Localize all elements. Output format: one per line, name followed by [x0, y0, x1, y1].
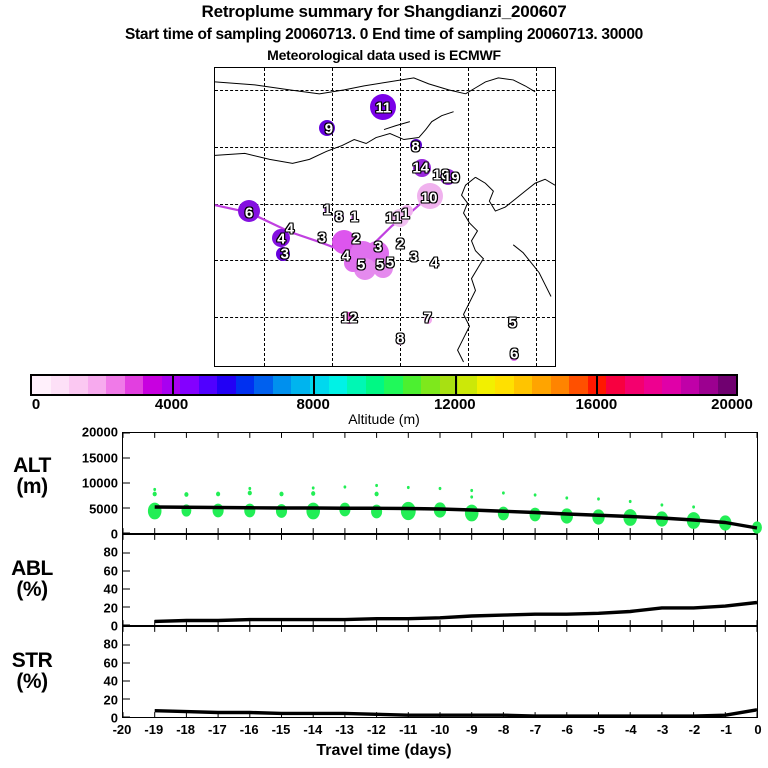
series-line	[155, 710, 757, 716]
map-day-label: 8	[396, 331, 404, 348]
abl-timeseries-panel	[122, 534, 758, 626]
map-day-label: 11	[386, 210, 402, 227]
x-tick-label: -10	[431, 722, 450, 737]
colorbar-swatch	[681, 376, 700, 394]
colorbar-swatch	[403, 376, 422, 394]
map-day-label: 7	[423, 310, 431, 327]
x-tick-label: -8	[498, 722, 510, 737]
y-tick-label: 10000	[58, 476, 118, 491]
map-day-label: 1	[350, 209, 358, 226]
x-tick-label: -17	[208, 722, 227, 737]
alt-marker-satellite	[153, 492, 157, 497]
y-tick-label: 80	[58, 637, 118, 652]
map-day-label: 10	[421, 189, 438, 206]
colorbar-swatch	[551, 376, 570, 394]
retroplume-map: 91181418191064433181245535111234128756	[214, 67, 556, 367]
colorbar-swatch	[495, 376, 514, 394]
map-day-label: 3	[318, 229, 326, 246]
alt-marker-satellite	[470, 489, 473, 492]
altitude-colorbar	[30, 374, 738, 396]
alt-marker-satellite	[565, 496, 568, 499]
colorbar-swatch	[106, 376, 125, 394]
alt-marker-satellite	[597, 497, 600, 500]
colorbar-swatch	[180, 376, 199, 394]
colorbar-swatch	[329, 376, 348, 394]
page-title: Retroplume summary for Shangdianzi_20060…	[0, 2, 768, 22]
map-day-label: 12	[341, 310, 358, 327]
colorbar-swatch	[532, 376, 551, 394]
y-tick-label: 60	[58, 655, 118, 670]
map-day-label: 5	[508, 314, 516, 331]
colorbar-swatch	[69, 376, 88, 394]
str-row-label: STR(%)	[4, 650, 60, 692]
colorbar-swatch	[421, 376, 440, 394]
alt-marker	[561, 508, 573, 523]
series-line	[155, 603, 757, 622]
map-day-label: 3	[410, 249, 418, 266]
map-day-label: 3	[374, 238, 382, 255]
x-tick-label: -16	[240, 722, 259, 737]
map-day-label: 8	[411, 138, 419, 155]
x-tick-label: -1	[720, 722, 732, 737]
alt-marker-satellite	[661, 503, 664, 506]
abl-row-label: ABL(%)	[4, 558, 60, 600]
alt-marker	[276, 504, 287, 518]
map-day-label: 6	[510, 346, 518, 363]
colorbar-separator	[172, 374, 174, 396]
colorbar-swatch	[347, 376, 366, 394]
map-day-label: 3	[281, 246, 289, 263]
map-day-label: 5	[386, 255, 394, 272]
colorbar-swatch	[273, 376, 292, 394]
y-tick-label: 20	[58, 600, 118, 615]
x-tick-label: -20	[113, 722, 132, 737]
colorbar-swatch	[217, 376, 236, 394]
alt-marker-satellite	[439, 487, 442, 490]
y-tick-label: 60	[58, 563, 118, 578]
map-day-label: 6	[245, 204, 253, 221]
map-day-label: 19	[443, 170, 460, 187]
y-tick-label: 40	[58, 674, 118, 689]
colorbar-swatch	[644, 376, 663, 394]
alt-row-label: ALT(m)	[4, 455, 60, 497]
colorbar-swatch	[699, 376, 718, 394]
meteorological-data-note: Meteorological data used is ECMWF	[0, 47, 768, 63]
colorbar-swatch	[88, 376, 107, 394]
map-day-label: 5	[357, 256, 365, 273]
map-day-label: 2	[352, 231, 360, 248]
colorbar-swatch	[477, 376, 496, 394]
altitude-plot	[123, 433, 757, 533]
alt-y-tick-labels: 05000100001500020000	[56, 432, 118, 534]
alt-marker-satellite	[216, 492, 220, 497]
y-tick-label: 0	[58, 711, 118, 726]
map-day-label: 14	[412, 159, 429, 176]
colorbar-swatch	[199, 376, 218, 394]
x-tick-label: -6	[561, 722, 573, 737]
altitude-timeseries-panel	[122, 432, 758, 534]
alt-marker	[401, 502, 416, 520]
alt-marker	[213, 504, 224, 518]
y-tick-label: 5000	[58, 501, 118, 516]
alt-marker-satellite	[279, 492, 283, 497]
alt-marker	[465, 505, 479, 522]
alt-marker-satellite	[344, 485, 347, 488]
map-day-label: 4	[286, 220, 294, 237]
colorbar-swatch	[458, 376, 477, 394]
y-tick-label: 40	[58, 582, 118, 597]
map-day-label: 5	[376, 256, 384, 273]
alt-marker-satellite	[629, 500, 632, 503]
sampling-time-subtitle: Start time of sampling 20060713. 0 End t…	[0, 26, 768, 44]
x-tick-label: -12	[367, 722, 386, 737]
colorbar-swatch	[366, 376, 385, 394]
y-tick-label: 15000	[58, 450, 118, 465]
alt-marker-satellite	[470, 495, 473, 498]
x-tick-label: -11	[399, 722, 417, 737]
alt-marker-satellite	[311, 491, 315, 496]
x-tick-label: -13	[335, 722, 354, 737]
map-day-label: 11	[375, 100, 391, 117]
x-axis-title: Travel time (days)	[0, 742, 768, 760]
x-tick-label: -3	[657, 722, 669, 737]
map-day-label: 4	[430, 255, 438, 272]
y-tick-label: 80	[58, 545, 118, 560]
colorbar-separator	[455, 374, 457, 396]
colorbar-swatch	[125, 376, 144, 394]
alt-marker-satellite	[248, 491, 252, 496]
x-tick-label: -5	[593, 722, 605, 737]
map-day-label: 1	[323, 201, 331, 218]
map-day-label: 4	[342, 247, 350, 264]
str-plot	[123, 627, 757, 717]
x-tick-label: -2	[689, 722, 701, 737]
colorbar-swatch	[32, 376, 51, 394]
x-tick-label: -7	[530, 722, 542, 737]
str-timeseries-panel	[122, 626, 758, 718]
abl-plot	[123, 535, 757, 625]
map-day-label: 8	[335, 209, 343, 226]
alt-marker-satellite	[184, 492, 188, 497]
colorbar-swatch	[254, 376, 273, 394]
map-day-label: 9	[325, 121, 333, 138]
map-day-label: 2	[396, 235, 404, 252]
colorbar-swatch	[662, 376, 681, 394]
alt-marker	[530, 508, 541, 522]
x-tick-label: -9	[466, 722, 478, 737]
x-tick-label: -15	[272, 722, 291, 737]
x-tick-label: -18	[176, 722, 195, 737]
y-tick-label: 20000	[58, 425, 118, 440]
colorbar-swatch	[718, 376, 737, 394]
alt-marker-satellite	[248, 487, 251, 490]
str-y-tick-labels: 020406080	[56, 626, 118, 718]
colorbar-swatch	[606, 376, 625, 394]
alt-marker	[244, 504, 255, 518]
alt-marker-satellite	[692, 505, 695, 508]
x-tick-label: -19	[144, 722, 163, 737]
colorbar-swatch	[236, 376, 255, 394]
alt-marker-satellite	[375, 492, 379, 497]
colorbar-swatch	[143, 376, 162, 394]
colorbar-swatch	[384, 376, 403, 394]
colorbar-swatch	[625, 376, 644, 394]
colorbar-swatch	[291, 376, 310, 394]
map-day-label: 1	[401, 206, 409, 223]
colorbar-swatch	[51, 376, 70, 394]
x-tick-label: 0	[754, 722, 761, 737]
alt-marker	[498, 507, 509, 521]
abl-y-tick-labels: 020406080	[56, 534, 118, 626]
alt-marker	[148, 503, 162, 520]
colorbar-separator	[596, 374, 598, 396]
alt-marker-satellite	[312, 486, 315, 489]
alt-marker	[306, 503, 320, 520]
colorbar-separator	[313, 374, 315, 396]
alt-marker-satellite	[153, 488, 156, 491]
colorbar-swatch	[569, 376, 588, 394]
alt-marker-satellite	[502, 491, 505, 494]
colorbar-swatch	[514, 376, 533, 394]
alt-marker-satellite	[375, 484, 378, 487]
alt-marker-satellite	[534, 493, 537, 496]
x-tick-label: -4	[625, 722, 637, 737]
alt-marker-satellite	[407, 486, 410, 489]
y-tick-label: 20	[58, 692, 118, 707]
x-tick-label: -14	[303, 722, 322, 737]
